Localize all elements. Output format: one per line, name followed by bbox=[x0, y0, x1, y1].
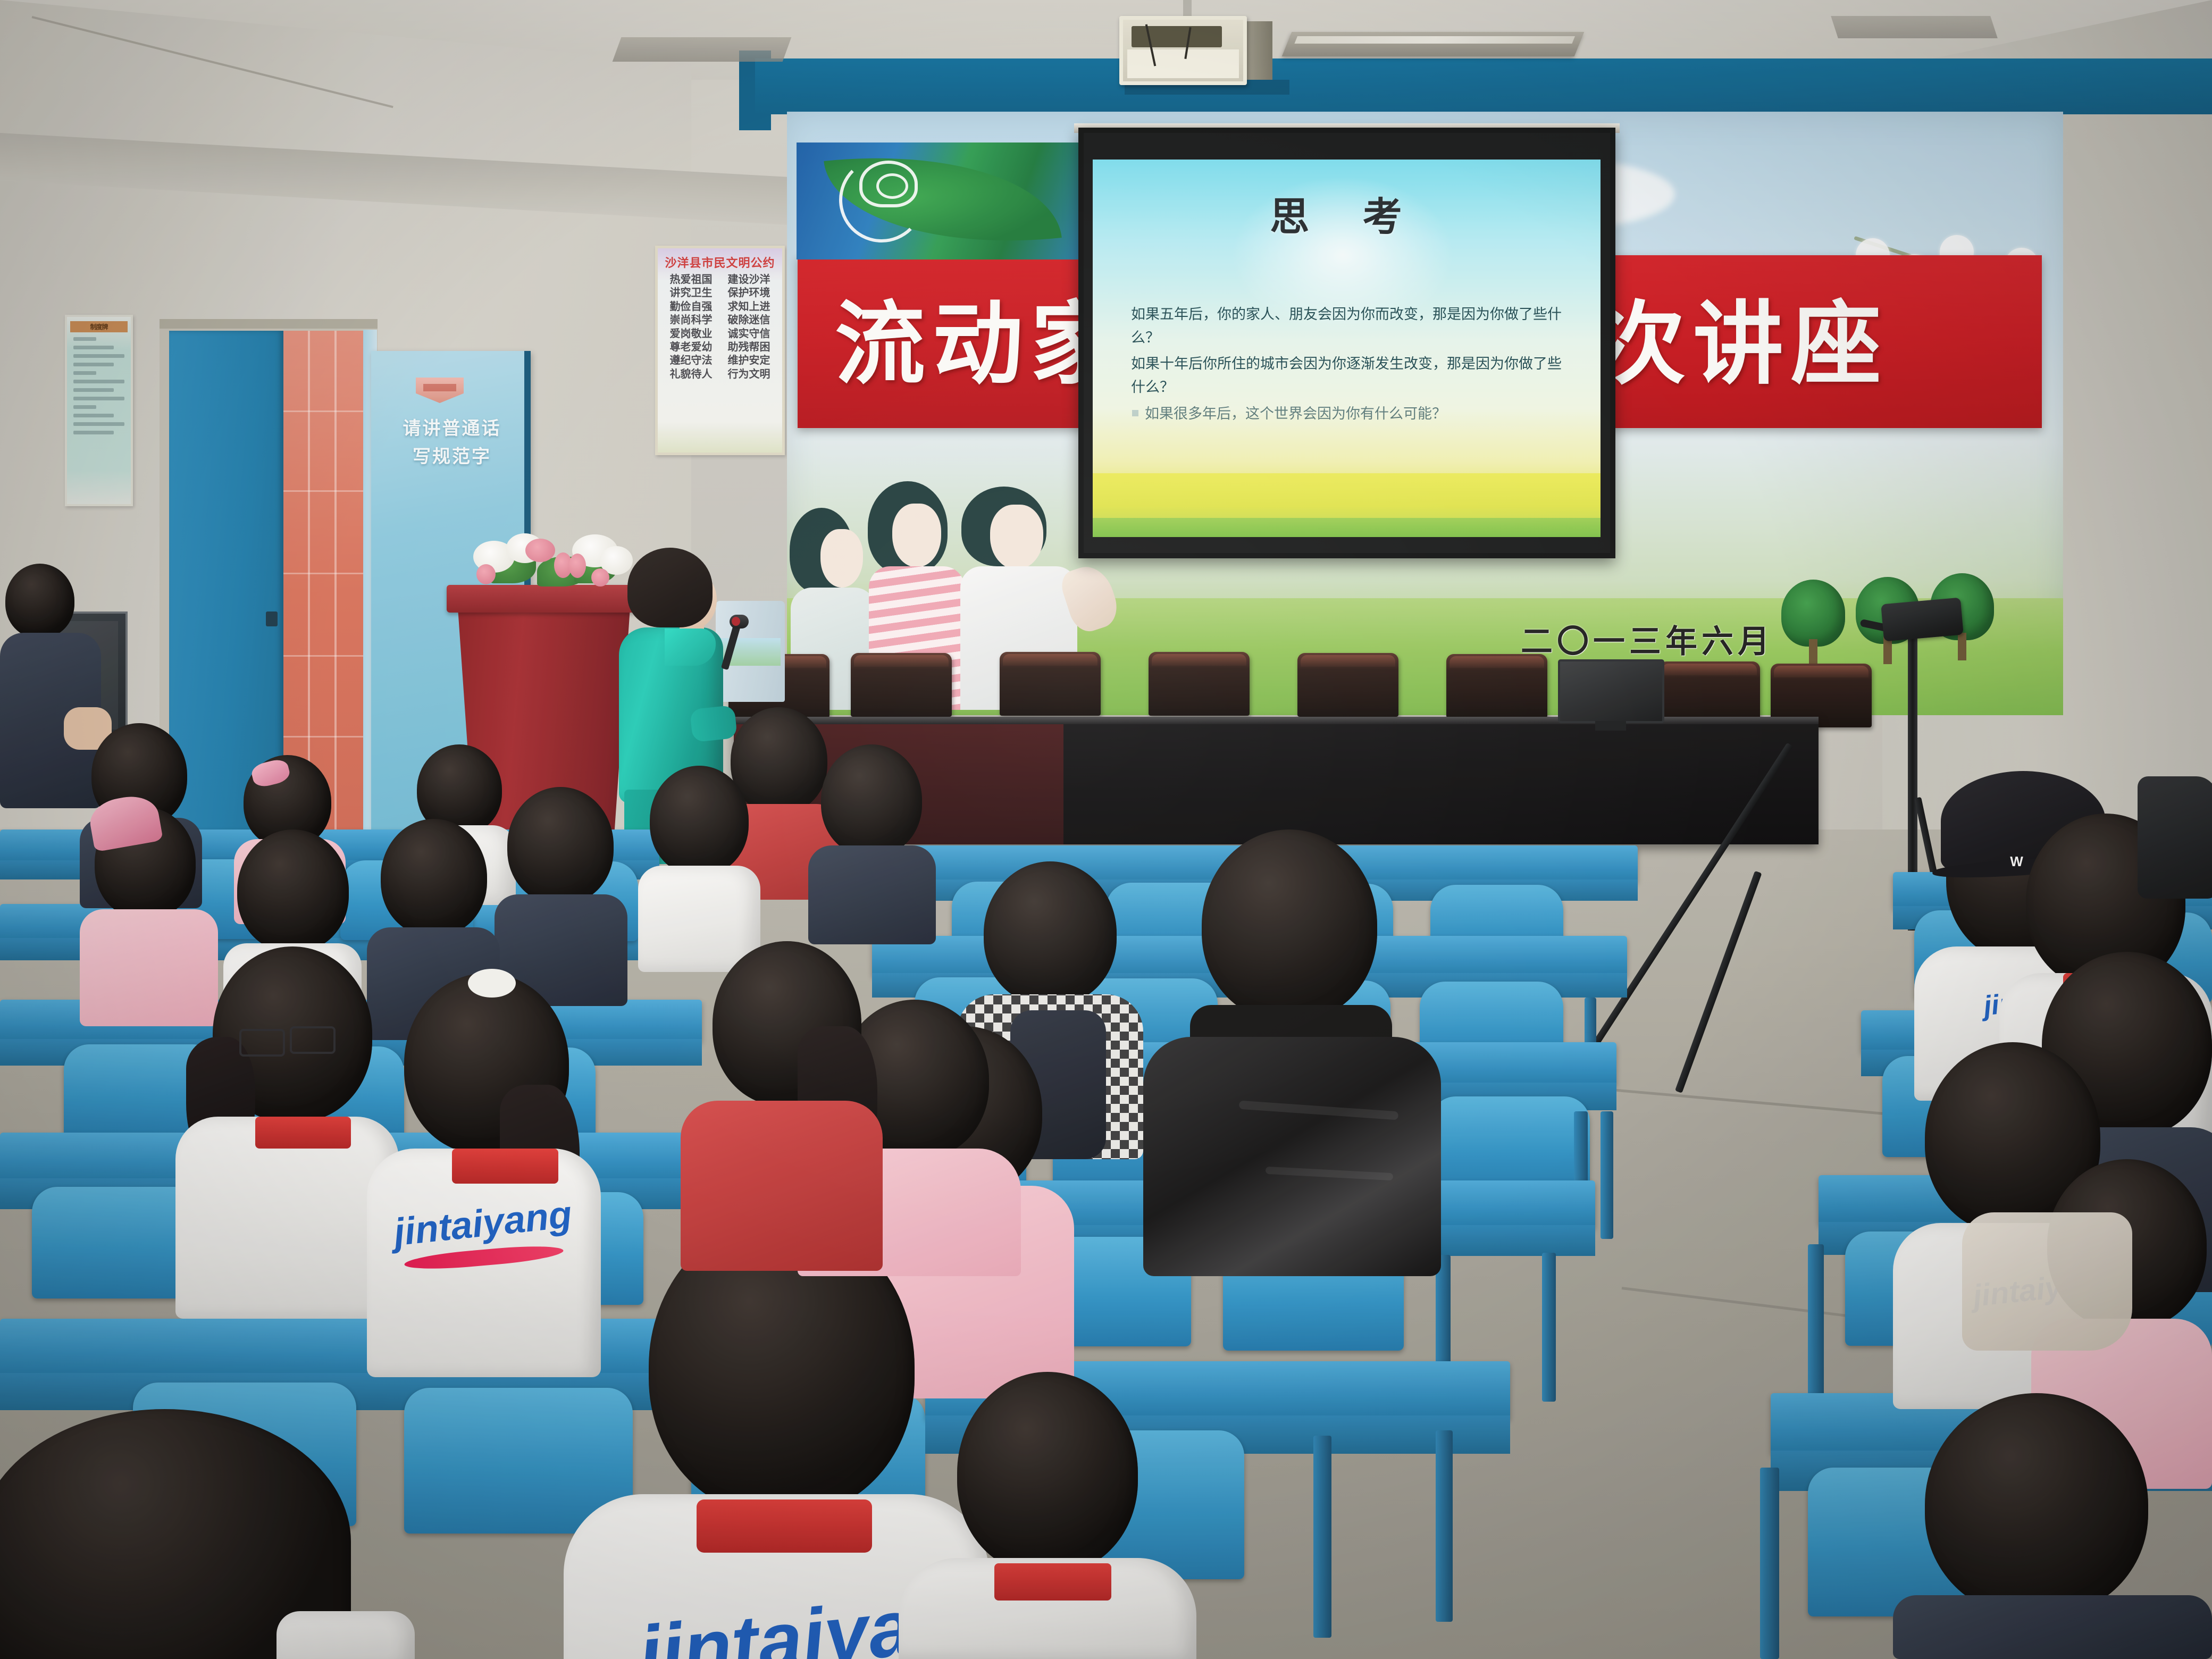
glasses bbox=[290, 1026, 336, 1054]
ceiling-vent bbox=[613, 37, 792, 62]
association-emblem-icon bbox=[797, 143, 1094, 259]
glasses bbox=[239, 1029, 285, 1057]
wall-dado-band bbox=[755, 58, 2212, 114]
photograph-scene: 制度牌 沙洋县市民文明公约 热爱祖国建设沙洋讲究卫生保护环境勤俭自强求知上进崇尚… bbox=[0, 0, 2212, 1659]
fluorescent-tube-light bbox=[1282, 32, 1585, 56]
flower-arrangement bbox=[468, 529, 627, 592]
audience-member-foreground bbox=[1893, 1393, 2212, 1659]
ceiling-vent bbox=[1831, 16, 1998, 38]
crt-monitor bbox=[1558, 659, 1664, 723]
teal-placard-title: 制度牌 bbox=[70, 321, 128, 332]
stage-chair bbox=[1149, 652, 1250, 716]
civility-phrase: 诚实守信 bbox=[728, 329, 770, 339]
civility-phrase: 讲究卫生 bbox=[670, 288, 713, 298]
slide-body: 如果五年后，你的家人、朋友会因为你而改变，那是因为你做了些什么？ 如果十年后你所… bbox=[1131, 303, 1572, 429]
desk-leg bbox=[1760, 1468, 1779, 1659]
civility-pact-poster: 沙洋县市民文明公约 热爱祖国建设沙洋讲究卫生保护环境勤俭自强求知上进崇尚科学破除… bbox=[655, 246, 785, 455]
civility-poster-row: 勤俭自强求知上进 bbox=[662, 301, 778, 312]
civility-phrase: 礼貌待人 bbox=[670, 369, 713, 380]
ceiling-projector bbox=[1119, 16, 1247, 85]
projected-slide: 思 考 如果五年后，你的家人、朋友会因为你而改变，那是因为你做了些什么？ 如果十… bbox=[1093, 160, 1601, 537]
audience-student-foreground bbox=[0, 1409, 415, 1659]
civility-phrase: 热爱祖国 bbox=[670, 274, 713, 285]
stage-chair bbox=[1659, 661, 1760, 725]
monitor-stand bbox=[1595, 721, 1626, 731]
civility-poster-row: 尊老爱幼助残帮困 bbox=[662, 342, 778, 353]
civility-phrase: 遵纪守法 bbox=[670, 355, 713, 366]
civility-phrase: 行为文明 bbox=[728, 369, 770, 380]
audience-student bbox=[899, 1372, 1196, 1659]
civility-phrase: 助残帮困 bbox=[728, 342, 770, 353]
door-handle[interactable] bbox=[266, 611, 278, 626]
civility-poster-row: 崇尚科学破除迷信 bbox=[662, 315, 778, 325]
civility-phrase: 爱岗敬业 bbox=[670, 329, 713, 339]
civility-poster-row: 礼貌待人行为文明 bbox=[662, 369, 778, 380]
slide-line-1: 如果五年后，你的家人、朋友会因为你而改变，那是因为你做了些什么？ bbox=[1131, 303, 1572, 349]
civility-phrase: 勤俭自强 bbox=[670, 301, 713, 312]
civility-phrase: 保护环境 bbox=[728, 288, 770, 298]
audience-member bbox=[495, 787, 627, 1000]
stage-chair bbox=[1297, 653, 1398, 717]
coat-on-chair bbox=[1962, 1212, 2132, 1351]
civility-poster-row: 讲究卫生保护环境 bbox=[662, 288, 778, 298]
audience-adult-leather-jacket bbox=[1143, 829, 1441, 1276]
banner-text-right: 次讲座 bbox=[1595, 265, 1889, 424]
banner-date-text: 二〇一三年六月 bbox=[1521, 616, 1774, 662]
audience-member bbox=[638, 766, 760, 968]
civility-phrase: 建设沙洋 bbox=[728, 274, 770, 285]
projector-lens bbox=[1132, 26, 1222, 47]
desk-leg bbox=[1542, 1253, 1556, 1402]
civility-phrase: 维护安定 bbox=[728, 355, 770, 366]
slide-title: 思 考 bbox=[1093, 185, 1601, 242]
civility-poster-row: 爱岗敬业诚实守信 bbox=[662, 329, 778, 339]
civility-phrase: 求知上进 bbox=[728, 301, 770, 312]
audience-member bbox=[808, 744, 936, 941]
audience-member bbox=[681, 941, 883, 1271]
teal-placard-poster: 制度牌 bbox=[65, 315, 133, 506]
microphone-head-icon bbox=[730, 615, 749, 629]
audience-member bbox=[175, 946, 399, 1319]
slide-line-2: 如果十年后你所住的城市会因为你逐渐发生改变，那是因为你做了些什么？ bbox=[1131, 353, 1572, 399]
mural-tree bbox=[1781, 580, 1845, 665]
civility-phrase: 崇尚科学 bbox=[670, 315, 713, 325]
civility-phrase: 破除迷信 bbox=[728, 315, 770, 325]
projector-side-panel bbox=[1247, 21, 1272, 80]
projector-body bbox=[1127, 49, 1239, 78]
civility-poster-row: 热爱祖国建设沙洋 bbox=[662, 274, 778, 285]
mandarin-board-text: 请讲普通话 写规范字 bbox=[378, 415, 526, 471]
stage-chair bbox=[1000, 652, 1101, 716]
civility-poster-title: 沙洋县市民文明公约 bbox=[662, 254, 778, 271]
desk-leg bbox=[1436, 1430, 1453, 1622]
hair-tie bbox=[468, 969, 516, 998]
civility-poster-row: 遵纪守法维护安定 bbox=[662, 355, 778, 366]
desk-leg bbox=[1601, 1111, 1613, 1239]
civility-phrase: 尊老爱幼 bbox=[670, 342, 713, 353]
mandarin-board-line1: 请讲普通话 bbox=[378, 415, 526, 443]
stage-chair bbox=[851, 653, 952, 717]
slide-line-3: 如果很多年后，这个世界会因为你有什么可能？ bbox=[1131, 403, 1572, 426]
backpack bbox=[2138, 776, 2212, 899]
civility-poster-rows: 热爱祖国建设沙洋讲究卫生保护环境勤俭自强求知上进崇尚科学破除迷信爱岗敬业诚实守信… bbox=[662, 274, 778, 380]
stage-chair bbox=[1446, 654, 1547, 718]
tripod-camera bbox=[1881, 598, 1964, 642]
mandarin-board-line2: 写规范字 bbox=[378, 443, 526, 471]
desk-leg bbox=[1313, 1436, 1331, 1638]
